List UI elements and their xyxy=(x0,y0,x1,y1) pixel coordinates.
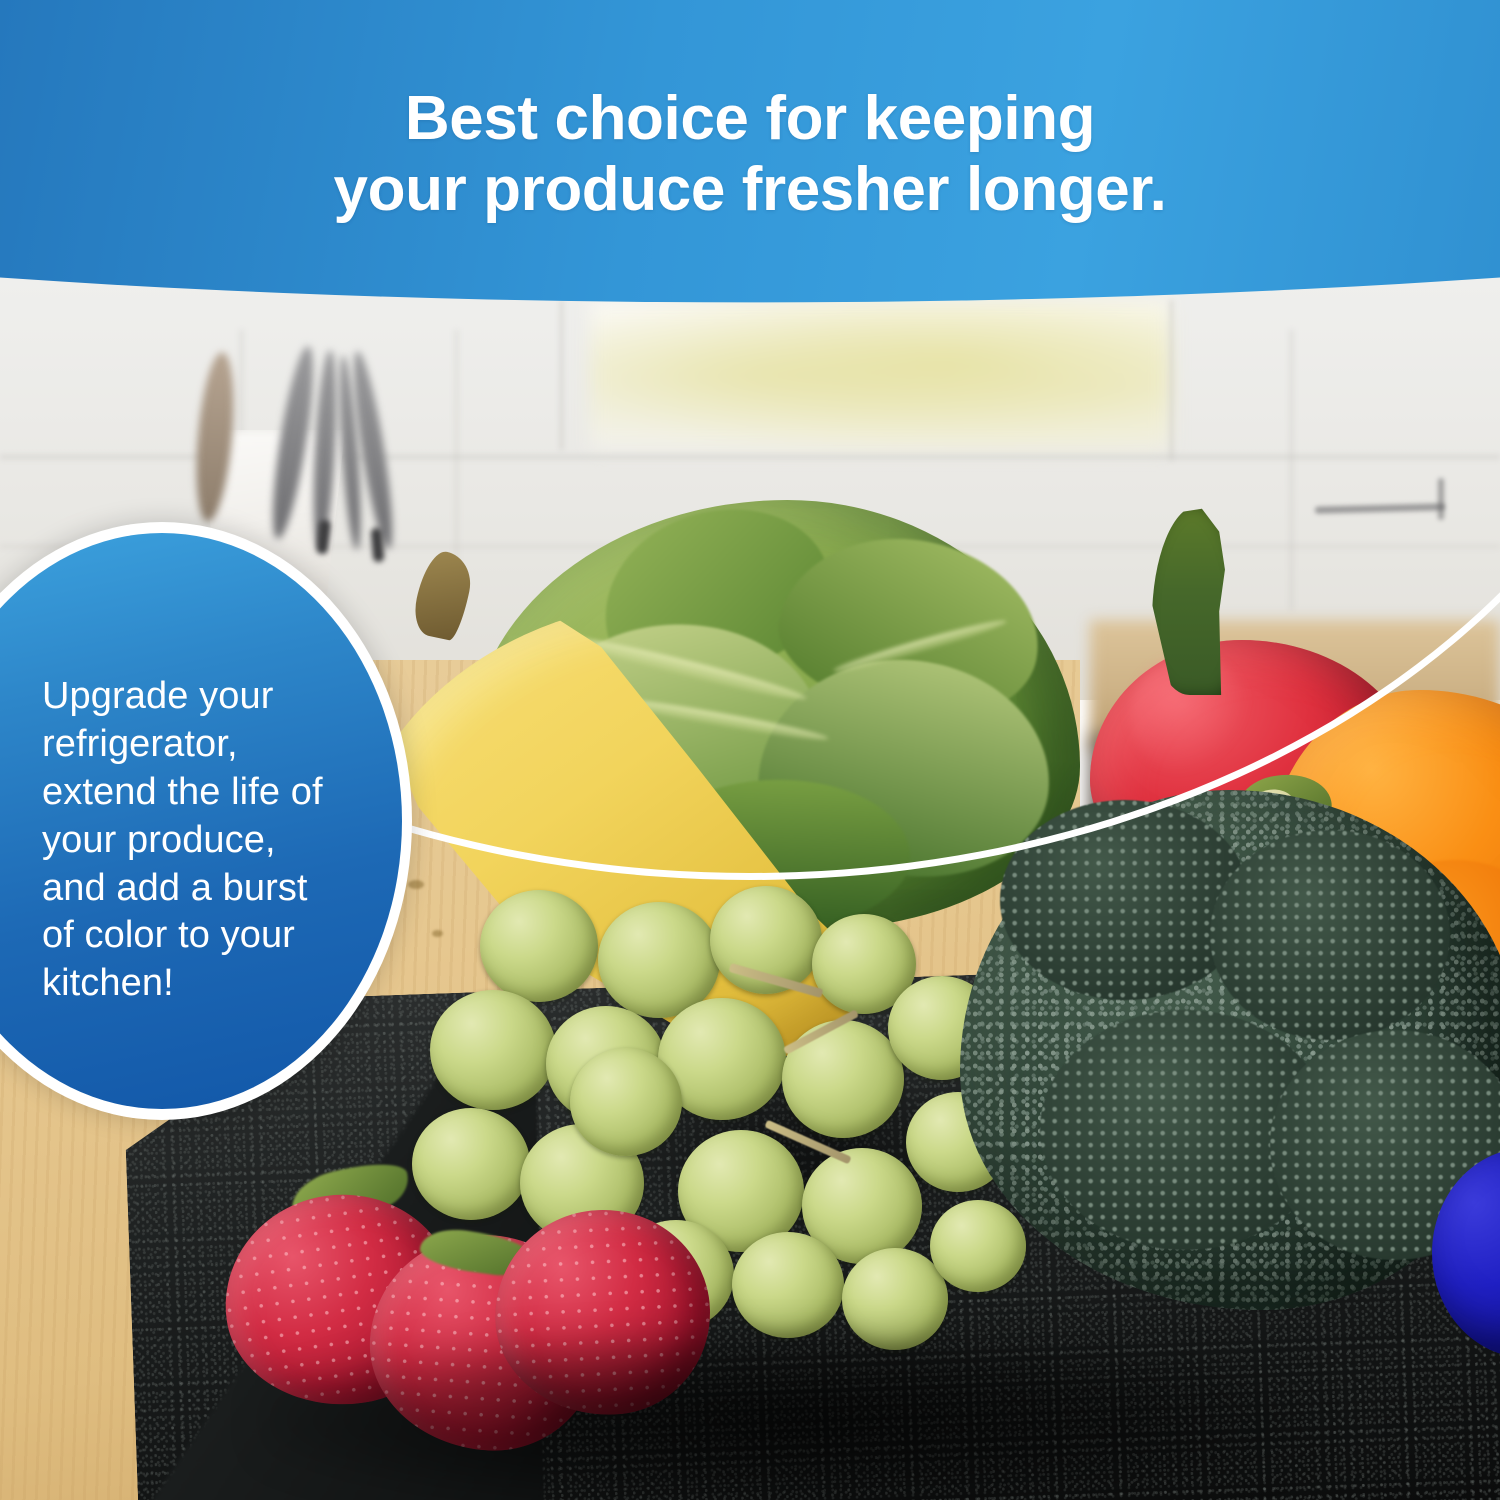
page-headline: Best choice for keeping your produce fre… xyxy=(0,84,1500,225)
grape xyxy=(930,1200,1026,1292)
grape xyxy=(480,890,598,1002)
grape xyxy=(412,1108,530,1220)
callout-body-text: Upgrade your refrigerator, extend the li… xyxy=(42,673,360,1008)
grape xyxy=(570,1048,682,1156)
grape xyxy=(732,1232,844,1338)
produce-shadow xyxy=(260,1330,1310,1500)
broccoli-floret-2 xyxy=(1210,830,1450,1040)
grape xyxy=(430,990,556,1110)
promo-image: Best choice for keeping your produce fre… xyxy=(0,0,1500,1500)
